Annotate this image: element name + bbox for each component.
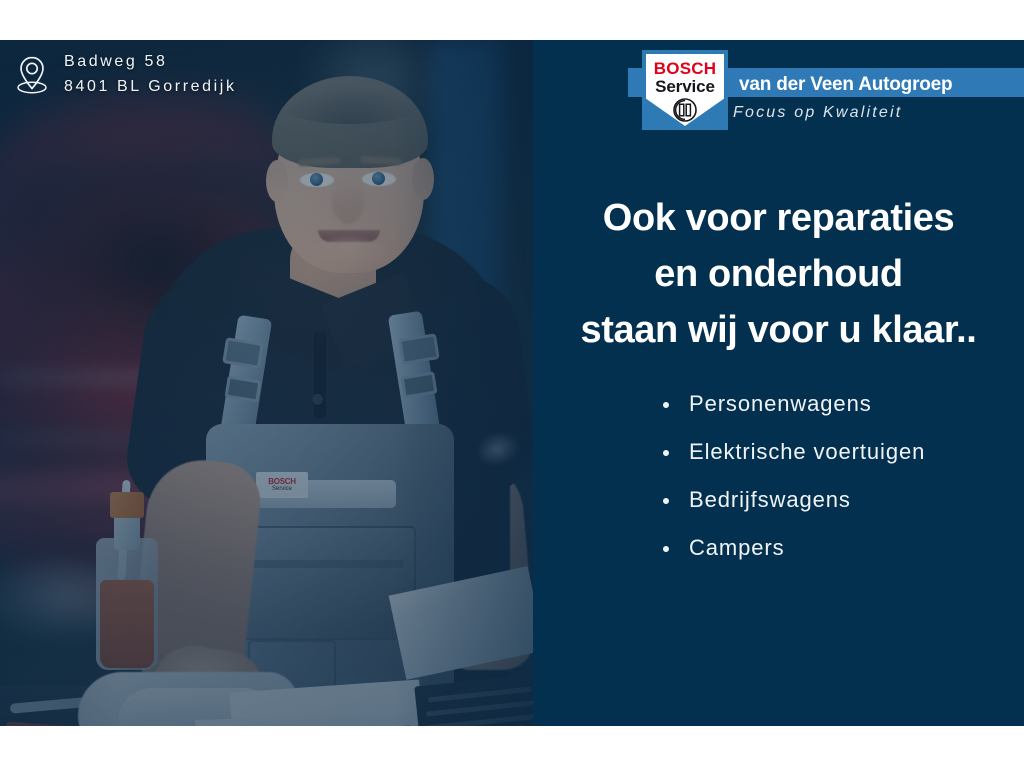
bosch-armature-icon bbox=[672, 97, 698, 123]
company-name: van der Veen Autogroep bbox=[739, 70, 952, 99]
info-panel: BOSCH Service van der Veen Autogroep Foc… bbox=[533, 40, 1024, 726]
list-item: Bedrijfswagens bbox=[657, 476, 1017, 524]
mechanic-left-ear bbox=[266, 160, 288, 202]
company-tagline: Focus op Kwaliteit bbox=[733, 104, 902, 122]
mechanic-right-iris bbox=[372, 172, 385, 185]
headline-line-1: Ook voor reparaties bbox=[533, 190, 1024, 246]
mechanic-nose bbox=[332, 180, 364, 224]
address-line-2: 8401 BL Gorredijk bbox=[64, 77, 237, 97]
bottle-fluid bbox=[100, 580, 154, 668]
patch-service-text: Service bbox=[272, 486, 292, 493]
headline-line-2: en onderhoud bbox=[533, 246, 1024, 302]
address-text: Badweg 58 8401 BL Gorredijk bbox=[64, 52, 237, 97]
patch-bosch-text: BOSCH bbox=[268, 478, 295, 486]
address-block: Badweg 58 8401 BL Gorredijk bbox=[14, 52, 237, 97]
services-list: Personenwagens Elektrische voertuigen Be… bbox=[657, 380, 1017, 572]
overall-chest-pocket bbox=[232, 526, 416, 640]
headline: Ook voor reparaties en onderhoud staan w… bbox=[533, 190, 1024, 358]
list-item: Elektrische voertuigen bbox=[657, 428, 1017, 476]
mechanic-hairline-shadow bbox=[278, 84, 422, 124]
address-line-1: Badweg 58 bbox=[64, 52, 237, 72]
bosch-service-logo: BOSCH Service bbox=[642, 50, 728, 130]
bosch-shield-shape: BOSCH Service bbox=[646, 54, 724, 126]
location-pin-icon bbox=[14, 54, 50, 96]
bottle-cap bbox=[110, 492, 144, 518]
mechanic-chin bbox=[306, 238, 394, 272]
service-wordmark: Service bbox=[655, 77, 715, 96]
polo-placket bbox=[314, 332, 326, 418]
promo-banner: BOSCH Service bbox=[0, 40, 1024, 726]
mechanic-left-iris bbox=[310, 173, 323, 186]
bosch-wordmark: BOSCH bbox=[654, 60, 716, 77]
mechanic-right-ear bbox=[412, 158, 434, 200]
polo-button bbox=[312, 394, 323, 405]
overall-pocket-flap bbox=[252, 560, 404, 568]
bosch-service-patch-icon: BOSCH Service bbox=[256, 472, 308, 498]
headline-line-3: staan wij voor u klaar.. bbox=[533, 302, 1024, 358]
list-item: Campers bbox=[657, 524, 1017, 572]
brand-header: BOSCH Service van der Veen Autogroep Foc… bbox=[533, 40, 1024, 150]
mechanic-in-workshop-photo: BOSCH Service bbox=[0, 40, 533, 726]
list-item: Personenwagens bbox=[657, 380, 1017, 428]
